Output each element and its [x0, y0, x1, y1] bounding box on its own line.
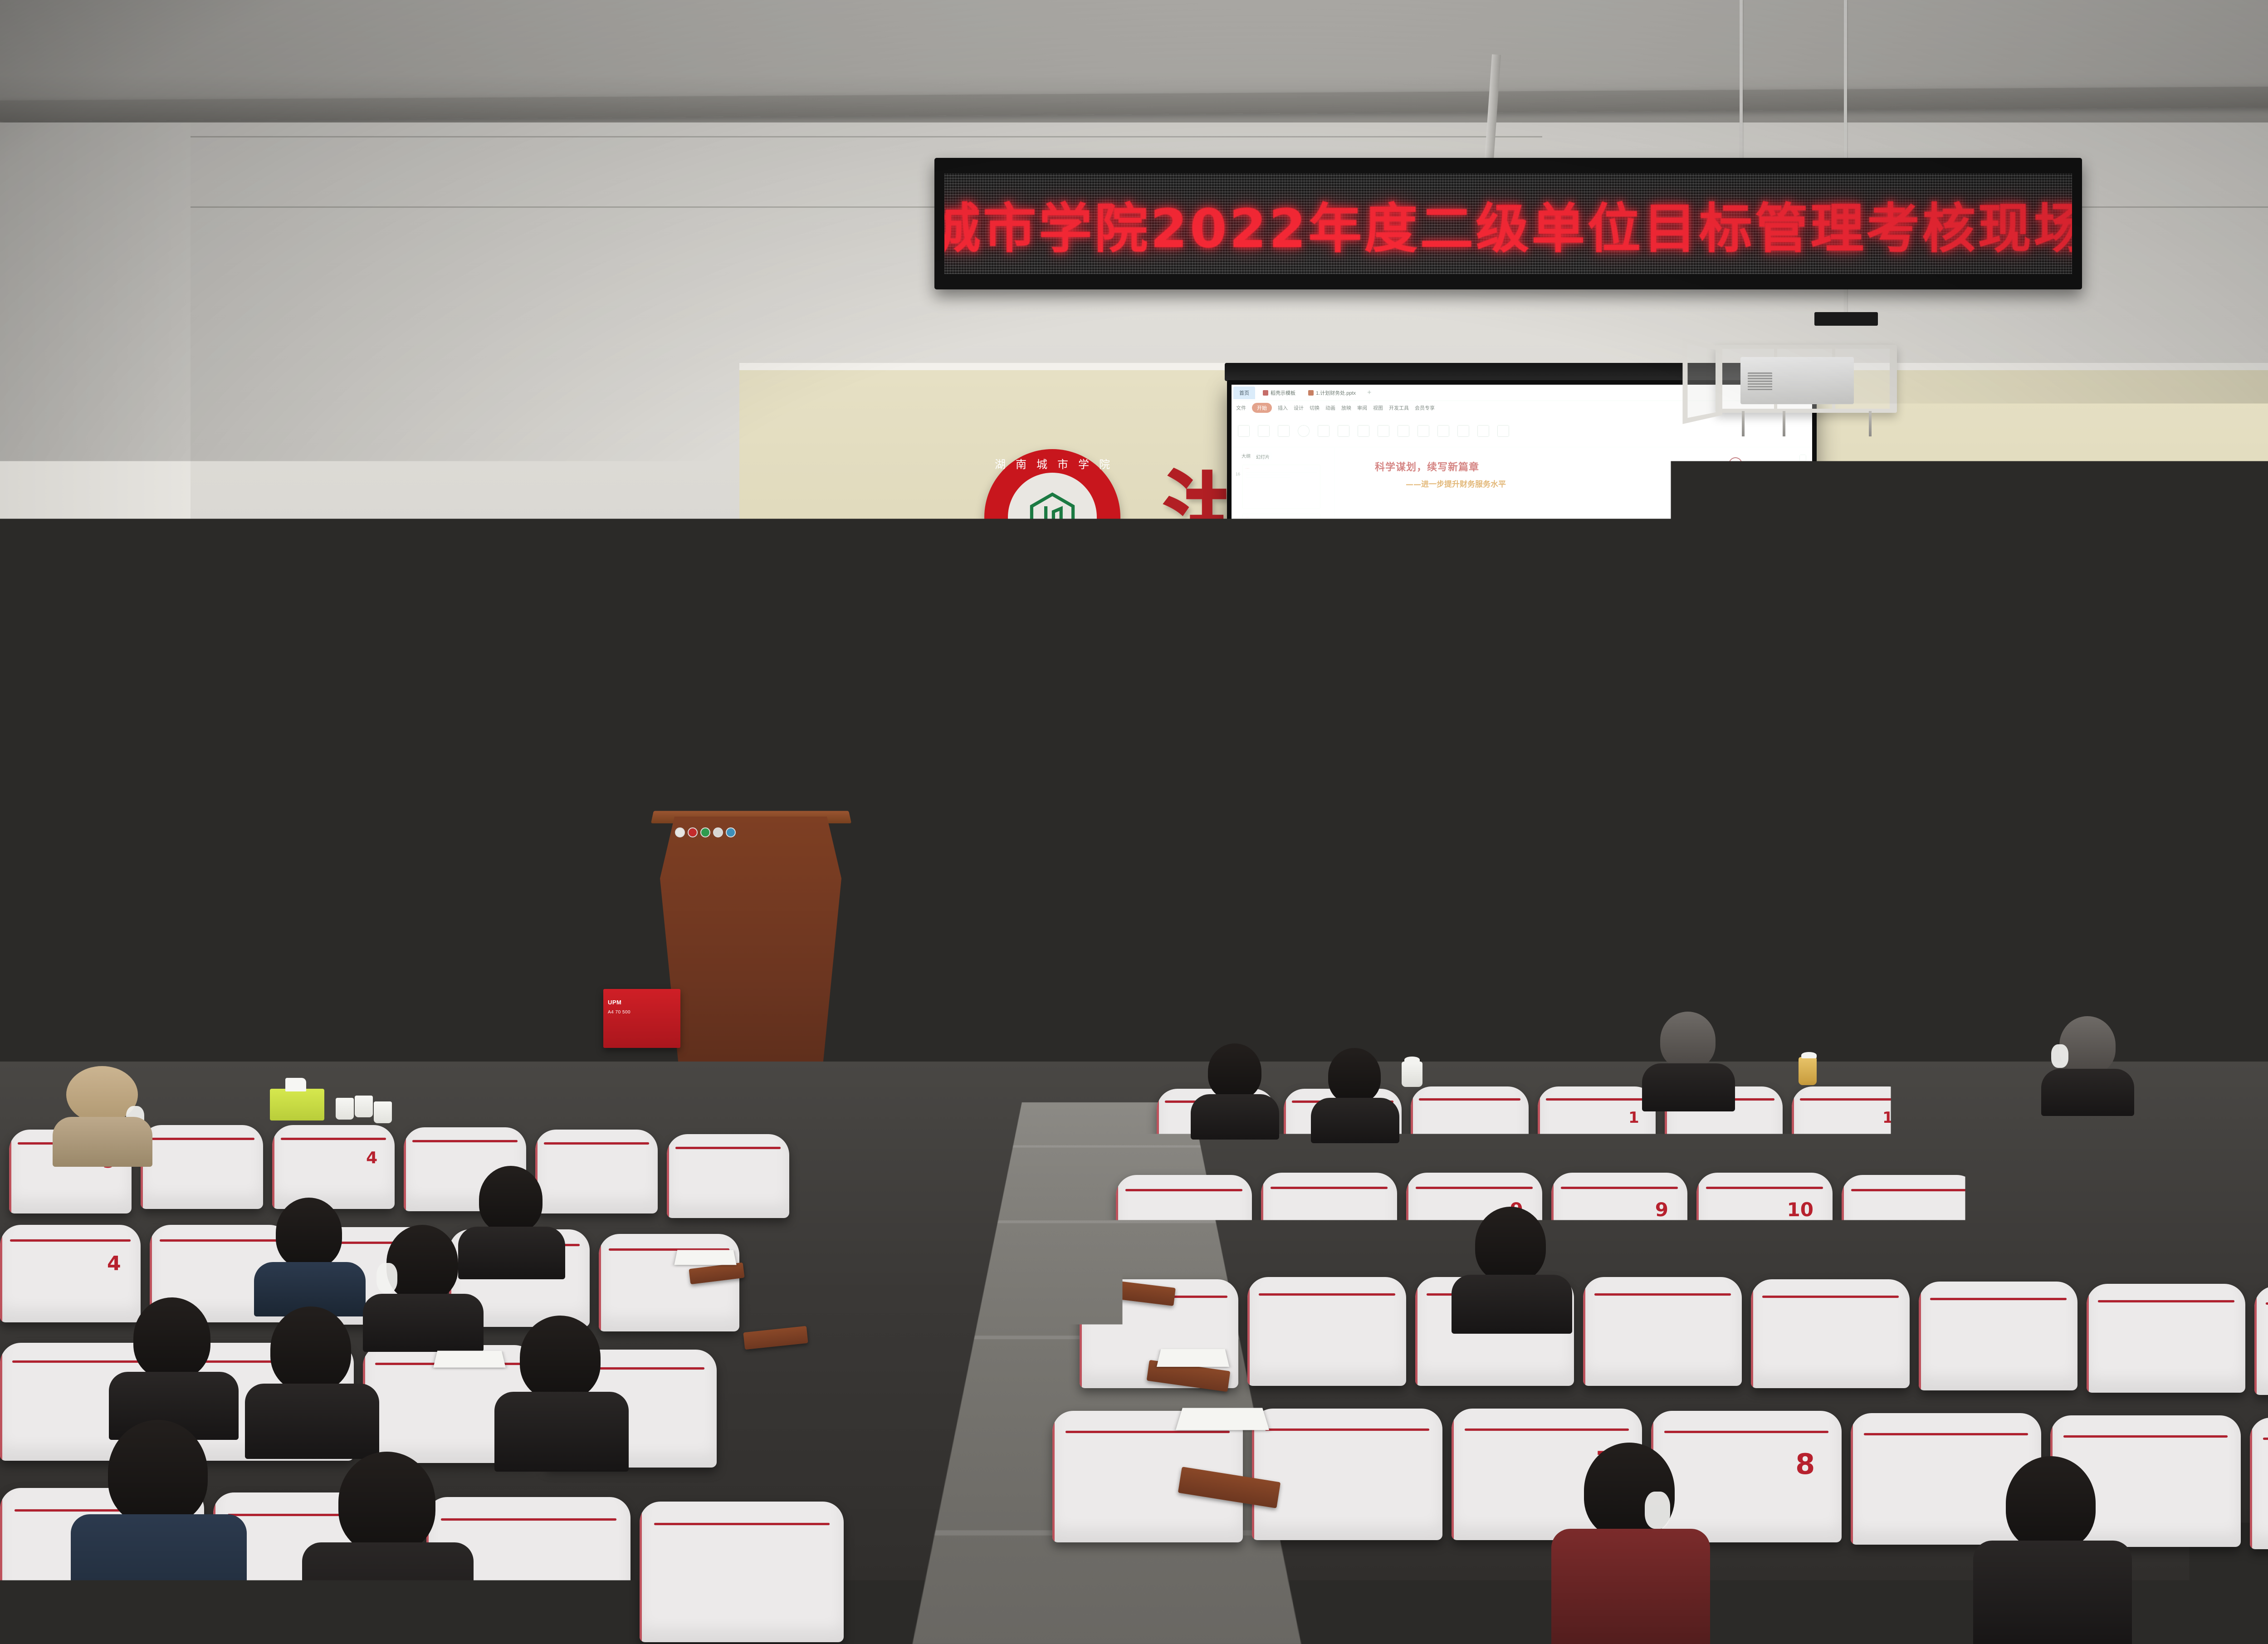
- chair-lumbar: [1289, 882, 1347, 899]
- name-placard: 主持人: [1892, 876, 1980, 904]
- seat[interactable]: 4: [272, 1125, 395, 1209]
- normal-view-icon[interactable]: ▭: [1727, 730, 1731, 735]
- cloud-icon[interactable]: [1799, 542, 1806, 548]
- audience-member: [1642, 1012, 1733, 1102]
- seat[interactable]: [640, 1502, 844, 1642]
- chair-lumbar: [2069, 882, 2127, 899]
- slide-canvas[interactable]: 湖南城市学院 科学谋划，续写新篇章 进一步提升财务服务水平 出台适应信息化条件下…: [1335, 447, 1793, 714]
- chair-lumbar: [2209, 885, 2268, 901]
- align-center-icon[interactable]: [1457, 425, 1469, 437]
- person-shoulders: [71, 1514, 247, 1644]
- thumbnail-number: 18: [1234, 563, 1240, 574]
- slide-body-line: 依托信息化建设，着力解决与校内各系统对接互联，: [1366, 533, 1561, 549]
- audience-member-foreground: [308, 1452, 467, 1644]
- help-icon[interactable]: [1799, 527, 1806, 534]
- person-head: [2006, 1456, 2096, 1551]
- seat[interactable]: [1252, 1409, 1442, 1540]
- head-table-panel: [1261, 938, 1606, 1042]
- new-slide-icon[interactable]: [1318, 425, 1330, 437]
- seat[interactable]: 1: [1792, 1086, 1910, 1166]
- seat[interactable]: [1751, 1279, 1910, 1388]
- projector-mount-leg: [1783, 411, 1785, 436]
- audience-member: [245, 1306, 376, 1452]
- projection-surface: 首页 稻壳示模板 1.计划财务处.pptx + 文件 开始 插入 设计 切换 动…: [1232, 385, 1812, 739]
- thumbnail-number: 19: [1234, 612, 1240, 623]
- head-table-surface: [862, 903, 2268, 919]
- thumb-text-line: [1246, 524, 1290, 525]
- text-tools-icon[interactable]: [1799, 484, 1806, 490]
- hexagon-logo-icon: [1025, 490, 1080, 544]
- section-icon[interactable]: [1358, 425, 1369, 437]
- face-mask: [2051, 1044, 2068, 1068]
- diagram-node-contract: 合同管理: [1701, 513, 1728, 545]
- tea-cup-on-head-table: [1862, 862, 1883, 887]
- emblem-inner-disc: [1008, 473, 1097, 562]
- face-mask: [1645, 1492, 1670, 1529]
- person-head: [1181, 1116, 1241, 1179]
- thumbnail-number: 17: [1234, 514, 1240, 525]
- podium-badge-icon: [726, 827, 736, 837]
- person-head: [1208, 1043, 1261, 1100]
- pane-tab-group: 大纲 幻灯片: [1234, 451, 1332, 465]
- projection-screen-frame: 首页 稻壳示模板 1.计划财务处.pptx + 文件 开始 插入 设计 切换 动…: [1227, 380, 1817, 743]
- seat[interactable]: [1842, 1175, 1978, 1268]
- slide-body-line: 助力智慧新城院建设。: [1366, 565, 1561, 580]
- auditorium-scene: 湖南城市学院2022年度二级单位目标管理考核现场述职 湖南城市学院 Hunan …: [0, 0, 2268, 1644]
- seat[interactable]: [141, 1125, 263, 1209]
- thumbnail-row[interactable]: 17 ·····: [1234, 514, 1332, 558]
- audience-member: [1452, 1207, 1569, 1325]
- person-shoulders: [1973, 1541, 2132, 1644]
- person-head: [276, 1198, 342, 1268]
- add-slide-button[interactable]: +: [1290, 717, 1294, 725]
- ribbon-tab-insert[interactable]: 插入: [1278, 404, 1288, 411]
- thumb-logo-icon: [1304, 565, 1318, 568]
- person-head: [133, 1297, 210, 1379]
- paper-cup: [374, 1101, 392, 1123]
- tea-cup: [1402, 1062, 1422, 1087]
- led-banner-text: 湖南城市学院2022年度二级单位目标管理考核现场述职: [944, 185, 2072, 263]
- audience-member: [254, 1198, 363, 1306]
- speaker-face: [734, 709, 785, 768]
- person-head: [1457, 1107, 1519, 1173]
- find-replace-icon[interactable]: [1497, 425, 1509, 437]
- wall-crack-line: [0, 136, 1542, 137]
- face-mask: [376, 1263, 397, 1293]
- image-tools-icon[interactable]: [1799, 513, 1806, 519]
- person-shoulders: [2009, 1172, 2116, 1225]
- wps-home-tab[interactable]: 首页: [1233, 387, 1255, 399]
- audience-member: [2041, 1016, 2132, 1107]
- paper-cup: [355, 1096, 373, 1117]
- wps-tab-presentation[interactable]: 1.计划财务处.pptx: [1303, 387, 1361, 399]
- person-head: [1475, 1207, 1546, 1282]
- thumb-text-line: [1246, 521, 1317, 522]
- wps-tab-template[interactable]: 稻壳示模板: [1258, 387, 1300, 399]
- face-mask: [2021, 1144, 2040, 1171]
- diagram-node-student: 学生管理: [1748, 585, 1775, 618]
- seat[interactable]: [667, 1134, 789, 1218]
- person-head: [2030, 1111, 2094, 1179]
- ribbon-tab-animation[interactable]: 动画: [1325, 404, 1335, 411]
- projector-vent: [1748, 372, 1772, 391]
- person-head: [338, 1452, 435, 1553]
- pane-tab-outline[interactable]: 大纲: [1242, 452, 1251, 461]
- seat[interactable]: [2132, 1177, 2268, 1270]
- seat-number: 8: [1795, 1448, 1815, 1481]
- thumb-logo-icon: [1304, 467, 1318, 470]
- ime-mic-icon[interactable]: ●: [1725, 719, 1728, 725]
- seat[interactable]: 10: [1696, 1173, 1833, 1266]
- wall-name-en: HUNAN CITY UNIVERSITY: [1828, 558, 2268, 594]
- person-shoulders: [53, 1117, 152, 1167]
- seat-number: 9: [1655, 1199, 1668, 1221]
- person-head: [1328, 1048, 1381, 1103]
- person-shoulders: [1311, 1098, 1399, 1143]
- diagram-node-research: 科研管理: [1654, 585, 1681, 618]
- template-credit: 专注工作汇报PPT设计，定制QQ:41815772: [1265, 730, 1344, 736]
- emblem-cn-text: 湖南城市学院: [984, 455, 1120, 471]
- drink-bottle: [1799, 1057, 1817, 1085]
- podium: [660, 817, 841, 1098]
- ppt-file-icon: [1308, 390, 1314, 396]
- reading-view-icon[interactable]: ☐: [1745, 730, 1749, 735]
- thumb-graphic-icon: [1310, 576, 1315, 582]
- align-left-icon[interactable]: [1437, 425, 1449, 437]
- person-shoulders: [1551, 1529, 1710, 1644]
- thumb-text-line: [1246, 570, 1317, 571]
- slide-thumbnail-current[interactable]: ·····: [1242, 563, 1320, 607]
- tissue-box: [270, 1089, 324, 1120]
- diagram-center-node: 信息化建设: [1693, 549, 1736, 593]
- thumb-graphic-icon: [1310, 527, 1315, 533]
- format-painter-icon[interactable]: [1278, 425, 1290, 437]
- ribbon-tab-design[interactable]: 设计: [1294, 404, 1304, 411]
- thumb-text-line: [1246, 477, 1290, 478]
- pane-tab-slides[interactable]: 幻灯片: [1253, 452, 1272, 461]
- start-slideshow-button[interactable]: ▶: [1754, 729, 1761, 736]
- audience-member: [2009, 1111, 2114, 1216]
- projector-body: [1740, 357, 1854, 404]
- person-shoulders: [1642, 1063, 1735, 1111]
- podium-badge-icon: [713, 827, 723, 837]
- podium-badge-icon: [688, 827, 698, 837]
- chair-lumbar: [1003, 882, 1061, 899]
- person-shoulders: [2041, 1069, 2134, 1116]
- shapes-icon[interactable]: [1477, 425, 1489, 437]
- ime-toolbox-icon[interactable]: ▼: [1739, 719, 1744, 725]
- wps-tab-template-label: 稻壳示模板: [1271, 389, 1295, 396]
- new-tab-button[interactable]: +: [1364, 389, 1375, 397]
- seat-number: 1: [1882, 1109, 1893, 1127]
- emblem-en-text: Hunan City University: [984, 568, 1120, 578]
- audience-member: [363, 1225, 481, 1343]
- chair-lumbar: [1652, 882, 1710, 899]
- wps-tab-presentation-label: 1.计划财务处.pptx: [1316, 389, 1356, 396]
- person-head: [108, 1420, 208, 1525]
- projector-cage: [1716, 345, 1897, 413]
- shape-tools-icon[interactable]: [1799, 498, 1806, 505]
- slide-logo-ring-icon: [1729, 457, 1742, 471]
- ribbon-tab-member[interactable]: 会员专享: [1415, 404, 1435, 411]
- seat[interactable]: [1919, 1282, 2077, 1390]
- projector-mount-leg: [1869, 411, 1872, 436]
- seat[interactable]: [1583, 1277, 1742, 1386]
- thumb-text-line: [1246, 472, 1317, 473]
- projector-cage-door[interactable]: [1682, 338, 1722, 424]
- audience-member: [109, 1297, 236, 1434]
- seat[interactable]: 1: [1538, 1086, 1656, 1166]
- slide-counter: 幻灯片 18/19: [1235, 730, 1259, 736]
- ribbon-tab-file[interactable]: 文件: [1236, 404, 1246, 411]
- slide-thumbnail[interactable]: ·····: [1242, 612, 1320, 656]
- university-emblem: 湖南城市学院 Hunan City University: [984, 449, 1120, 585]
- slide-logo-text: 湖南城市学院: [1745, 460, 1778, 468]
- audience-member: [1311, 1048, 1397, 1134]
- thumb-text-line: [1246, 572, 1290, 574]
- person-shoulders: [494, 1392, 629, 1472]
- thumb-logo-icon: [1304, 614, 1318, 617]
- paper-cup: [336, 1098, 354, 1120]
- podium-badge-icon: [700, 827, 710, 837]
- ribbon-tab-view[interactable]: 视图: [1373, 404, 1383, 411]
- zoom-level-label: 68%: [1766, 730, 1774, 735]
- slide-thumbnail[interactable]: ·····: [1242, 514, 1320, 558]
- layout-icon[interactable]: [1338, 425, 1349, 437]
- seat[interactable]: [2173, 1091, 2268, 1170]
- person-shoulders: [1452, 1275, 1572, 1334]
- wps-dove-icon: [1263, 390, 1268, 396]
- notes-placeholder[interactable]: 单击此处添加备注: [1340, 718, 1373, 724]
- thumbnail-row[interactable]: 16 ·····: [1234, 465, 1332, 509]
- slide-title: 科学谋划，续写新篇章: [1375, 459, 1779, 474]
- audience-member-foreground: [1556, 1443, 1706, 1644]
- seat[interactable]: [2250, 1418, 2268, 1549]
- seat-number: 1: [1628, 1109, 1639, 1127]
- podium-badge-strip: [675, 827, 736, 837]
- ribbon-tab-transition[interactable]: 切换: [1310, 404, 1320, 411]
- wps-ribbon-toolbar: [1232, 415, 1812, 447]
- sogou-ime-bar[interactable]: S 中 ● ▦ ▼: [1708, 718, 1744, 726]
- bold-icon[interactable]: [1378, 425, 1389, 437]
- ribbon-tab-slideshow[interactable]: 放映: [1341, 404, 1351, 411]
- underline-icon[interactable]: [1417, 425, 1429, 437]
- person-head: [2059, 1016, 2116, 1074]
- handout-document[interactable]: [1176, 1408, 1269, 1430]
- sogou-logo-icon: S: [1708, 719, 1714, 726]
- thumb-text-line: [1246, 475, 1290, 476]
- sorter-view-icon[interactable]: ▦: [1736, 730, 1740, 735]
- chair-lumbar: [1788, 882, 1846, 899]
- zoom-slider[interactable]: [1779, 732, 1808, 733]
- copy-paper-box: UPM A4 70 500: [603, 989, 680, 1048]
- ime-keyboard-icon[interactable]: ▦: [1731, 719, 1736, 725]
- slide-corner-logo: 湖南城市学院: [1729, 457, 1778, 471]
- seat-number: 4: [366, 1149, 377, 1167]
- person-shoulders: [302, 1542, 474, 1644]
- audience-member-with-hat: [50, 1066, 150, 1170]
- status-right-group: ▭ ▦ ☐ ▶ 68%: [1727, 729, 1808, 736]
- slide-thumbnail-pane[interactable]: 大纲 幻灯片 16 ····· 17: [1232, 447, 1335, 714]
- audience-member-foreground: [1978, 1456, 2127, 1644]
- paper-box-brand: UPM: [608, 999, 621, 1006]
- slide-thumbnail[interactable]: ·····: [1242, 465, 1320, 509]
- start-slideshow-icon[interactable]: [1298, 425, 1310, 437]
- seat-number: 4: [107, 1252, 121, 1275]
- slide-diagram: 信息化建设 合同管理 学生管理 科研管理: [1658, 514, 1771, 628]
- seat[interactable]: [1261, 1173, 1397, 1266]
- chair-lumbar: [865, 878, 923, 894]
- led-banner: 湖南城市学院2022年度二级单位目标管理考核现场述职: [934, 158, 2082, 289]
- handout-document[interactable]: [433, 1350, 505, 1367]
- person-head: [386, 1225, 458, 1301]
- backup-icon[interactable]: [1799, 556, 1806, 563]
- podium-laptop[interactable]: [726, 771, 862, 807]
- seat[interactable]: [2254, 1286, 2268, 1395]
- seat-number: 10: [1787, 1199, 1813, 1221]
- seat[interactable]: 9: [1551, 1173, 1687, 1266]
- design-ideas-icon[interactable]: [1799, 455, 1806, 461]
- paste-icon[interactable]: [1238, 425, 1250, 437]
- person-shoulders: [1161, 1173, 1264, 1224]
- ribbon-tab-developer[interactable]: 开发工具: [1389, 404, 1409, 411]
- missing-font-warning[interactable]: 缺失字体: [1350, 730, 1366, 736]
- paper-box-spec: A4 70 500: [608, 1010, 631, 1015]
- ime-mode-label[interactable]: 中: [1717, 718, 1722, 726]
- podium-badge-icon: [675, 827, 685, 837]
- handout-document[interactable]: [674, 1250, 736, 1265]
- person-head: [520, 1316, 601, 1400]
- slide-body-line: 出台适应信息化条件下的「报账服务指南」，: [1366, 518, 1561, 533]
- zoom-slider-knob[interactable]: [1804, 731, 1808, 734]
- person-head: [1660, 1012, 1716, 1069]
- wall-small-character: 品: [1134, 662, 1167, 710]
- audience-member: [1436, 1107, 1540, 1211]
- slide-body-text: 出台适应信息化条件下的「报账服务指南」， 依托信息化建设，着力解决与校内各系统对…: [1366, 518, 1561, 580]
- audience-member: [1161, 1116, 1261, 1216]
- name-placard: 何振: [1975, 876, 2064, 904]
- wall-rule-right: [1837, 653, 1923, 659]
- head-table-panel: [889, 938, 1234, 1042]
- person-shoulders: [363, 1294, 484, 1352]
- thumbnail-row[interactable]: 19 ·····: [1234, 612, 1332, 656]
- led-screen: 湖南城市学院2022年度二级单位目标管理考核现场述职: [944, 173, 2072, 274]
- slide-body-line: 提升信息共享程度，接续改进广大教职工网报体验，: [1366, 549, 1561, 565]
- person-head: [270, 1306, 351, 1392]
- right-task-pane[interactable]: [1793, 447, 1812, 714]
- seat[interactable]: [2087, 1284, 2245, 1393]
- align-tools-icon[interactable]: [1799, 469, 1806, 476]
- slide-subtitle: 进一步提升财务服务水平: [1406, 478, 1779, 489]
- person-head: [479, 1166, 543, 1233]
- italic-icon[interactable]: [1398, 425, 1409, 437]
- chair-lumbar: [1144, 882, 1202, 899]
- projector-ceiling-mount: [1814, 312, 1878, 326]
- ribbon-tab-home[interactable]: 开始: [1252, 403, 1272, 413]
- seat[interactable]: [1247, 1277, 1406, 1386]
- person-shoulders: [245, 1384, 379, 1459]
- audience-member-foreground: [77, 1420, 240, 1644]
- chair-lumbar: [1515, 882, 1574, 899]
- thumb-logo-icon: [1304, 516, 1318, 519]
- audience-member: [494, 1316, 626, 1465]
- handout-document[interactable]: [1157, 1349, 1229, 1367]
- cut-icon[interactable]: [1258, 425, 1270, 437]
- status-left-group: 幻灯片 18/19 专注工作汇报PPT设计，定制QQ:41815772 缺失字体: [1235, 730, 1366, 736]
- thumbnail-row[interactable]: 18 ·····: [1234, 563, 1332, 607]
- thumbnail-number: 16: [1234, 465, 1240, 476]
- wps-statusbar: + 单击此处添加备注 幻灯片 18/19 专注工作汇报PPT设计，定制QQ:41…: [1232, 714, 1812, 739]
- thumb-section-banner: ·····: [1246, 619, 1317, 629]
- ribbon-tab-review[interactable]: 审阅: [1357, 404, 1367, 411]
- projector-mount-leg: [1742, 411, 1745, 436]
